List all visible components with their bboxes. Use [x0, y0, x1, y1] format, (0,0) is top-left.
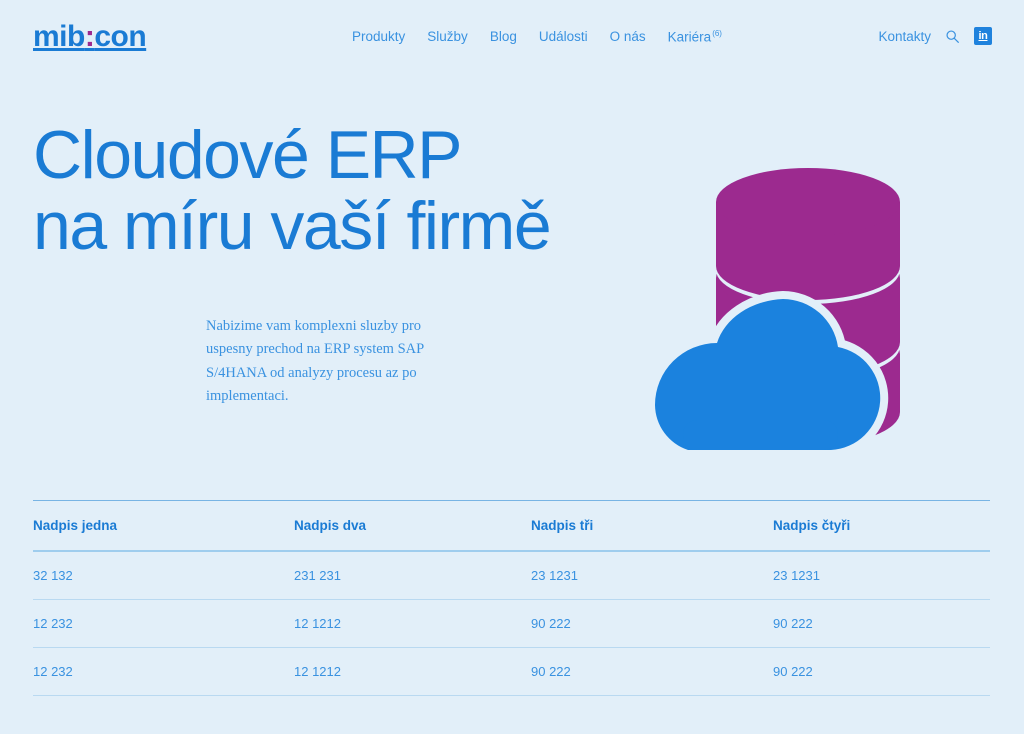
linkedin-icon[interactable]: in: [974, 27, 992, 45]
logo-colon: :: [85, 20, 95, 53]
nav-badge-kariera-count: (6): [712, 29, 722, 38]
column-header-4[interactable]: Nadpis čtyři: [773, 501, 990, 552]
table-cell: 32 132: [33, 551, 294, 600]
search-icon[interactable]: [945, 29, 960, 44]
nav-item-udalosti[interactable]: Události: [539, 29, 588, 45]
table-cell: 90 222: [773, 600, 990, 648]
page-title: Cloudové ERPna míru vaší firmě: [33, 120, 550, 261]
nav-label-sluzby: Služby: [427, 29, 468, 44]
table-cell: 90 222: [773, 648, 990, 696]
logo-mibcon[interactable]: mib:con: [33, 22, 146, 52]
nav-label-blog: Blog: [490, 29, 517, 44]
table-cell: 12 232: [33, 600, 294, 648]
table-cell: 90 222: [531, 648, 773, 696]
linkedin-glyph-label: in: [979, 31, 988, 42]
column-header-3[interactable]: Nadpis tři: [531, 501, 773, 552]
hero-title-line-2: na míru vaší firmě: [33, 188, 550, 264]
main-navigation: Produkty Služby Blog Události O nás Kari…: [352, 29, 722, 46]
data-table-section: Nadpis jedna Nadpis dva Nadpis tři Nadpi…: [33, 500, 990, 696]
hero-section: Cloudové ERPna míru vaší firmě Nabizime …: [0, 110, 1024, 470]
cloud-database-illustration: [588, 120, 968, 460]
table-header-row: Nadpis jedna Nadpis dva Nadpis tři Nadpi…: [33, 501, 990, 552]
table-row: 12 232 12 1212 90 222 90 222: [33, 600, 990, 648]
table-cell: 12 1212: [294, 600, 531, 648]
table-row: 12 232 12 1212 90 222 90 222: [33, 648, 990, 696]
column-header-1[interactable]: Nadpis jedna: [33, 501, 294, 552]
nav-item-kontakty[interactable]: Kontakty: [878, 29, 931, 44]
data-table: Nadpis jedna Nadpis dva Nadpis tři Nadpi…: [33, 500, 990, 696]
nav-label-kontakty: Kontakty: [878, 29, 931, 44]
hero-paragraph: Nabizime vam komplexni sluzby pro uspesn…: [206, 315, 438, 409]
table-body: 32 132 231 231 23 1231 23 1231 12 232 12…: [33, 551, 990, 696]
column-header-2[interactable]: Nadpis dva: [294, 501, 531, 552]
nav-label-produkty: Produkty: [352, 29, 405, 44]
header-actions: Kontakty in: [878, 27, 992, 45]
nav-item-sluzby[interactable]: Služby: [427, 29, 468, 45]
logo-text-pre: mib: [33, 20, 85, 53]
table-cell: 231 231: [294, 551, 531, 600]
table-cell: 12 232: [33, 648, 294, 696]
hero-title-line-1: Cloudové ERP: [33, 117, 461, 193]
table-cell: 12 1212: [294, 648, 531, 696]
table-row: 32 132 231 231 23 1231 23 1231: [33, 551, 990, 600]
table-cell: 23 1231: [531, 551, 773, 600]
table-header: Nadpis jedna Nadpis dva Nadpis tři Nadpi…: [33, 501, 990, 552]
logo-text-post: con: [94, 20, 146, 53]
table-cell: 23 1231: [773, 551, 990, 600]
page-root: mib:con Produkty Služby Blog Události O …: [0, 0, 1024, 734]
site-header: mib:con Produkty Služby Blog Události O …: [0, 0, 1024, 78]
nav-label-kariera: Kariéra: [668, 30, 712, 45]
nav-item-produkty[interactable]: Produkty: [352, 29, 405, 45]
nav-item-kariera[interactable]: Kariéra(6): [668, 29, 722, 46]
nav-item-o-nas[interactable]: O nás: [610, 29, 646, 45]
table-cell: 90 222: [531, 600, 773, 648]
nav-label-o-nas: O nás: [610, 29, 646, 44]
nav-label-udalosti: Události: [539, 29, 588, 44]
nav-item-blog[interactable]: Blog: [490, 29, 517, 45]
